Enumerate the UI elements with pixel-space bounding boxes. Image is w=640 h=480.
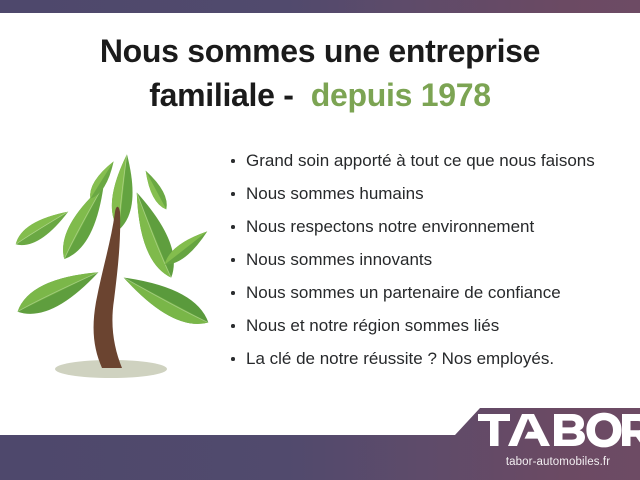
slide-root: Nous sommes une entreprise familiale - d… bbox=[0, 0, 640, 480]
list-item: Grand soin apporté à tout ce que nous fa… bbox=[228, 150, 640, 172]
tree-illustration bbox=[14, 150, 210, 386]
tree-illustration-svg bbox=[14, 150, 210, 386]
leaf-left-upper bbox=[55, 180, 114, 264]
leaf-right-upper bbox=[126, 188, 183, 282]
leaf-left-lower bbox=[14, 261, 104, 323]
list-item: Nous sommes un partenaire de confiance bbox=[228, 282, 640, 304]
list-item: Nous sommes innovants bbox=[228, 249, 640, 271]
list-item: Nous respectons notre environnement bbox=[228, 216, 640, 238]
leaf-right-lower bbox=[118, 266, 210, 333]
list-item: La clé de notre réussite ? Nos employés. bbox=[228, 348, 640, 370]
headline-line-1: Nous sommes une entreprise bbox=[0, 29, 640, 73]
top-accent-bar bbox=[0, 0, 640, 13]
footer-band: tabor-automobiles.fr bbox=[0, 398, 640, 480]
headline-line-2-prefix: familiale bbox=[149, 77, 274, 113]
value-bullet-list: Grand soin apporté à tout ce que nous fa… bbox=[228, 150, 640, 381]
page-title: Nous sommes une entreprise familiale - d… bbox=[0, 29, 640, 117]
list-item: Nous et notre région sommes liés bbox=[228, 315, 640, 337]
tree-trunk bbox=[94, 207, 122, 368]
headline-dash: - bbox=[275, 77, 311, 113]
brand-tagline: tabor-automobiles.fr bbox=[476, 456, 640, 468]
headline-accent: depuis 1978 bbox=[311, 77, 491, 113]
leaf-top-center bbox=[109, 153, 137, 231]
list-item: Nous sommes humains bbox=[228, 183, 640, 205]
brand-logo[interactable]: tabor-automobiles.fr bbox=[476, 406, 640, 480]
headline-line-2: familiale - depuis 1978 bbox=[0, 73, 640, 117]
brand-wordmark-icon bbox=[476, 410, 640, 450]
